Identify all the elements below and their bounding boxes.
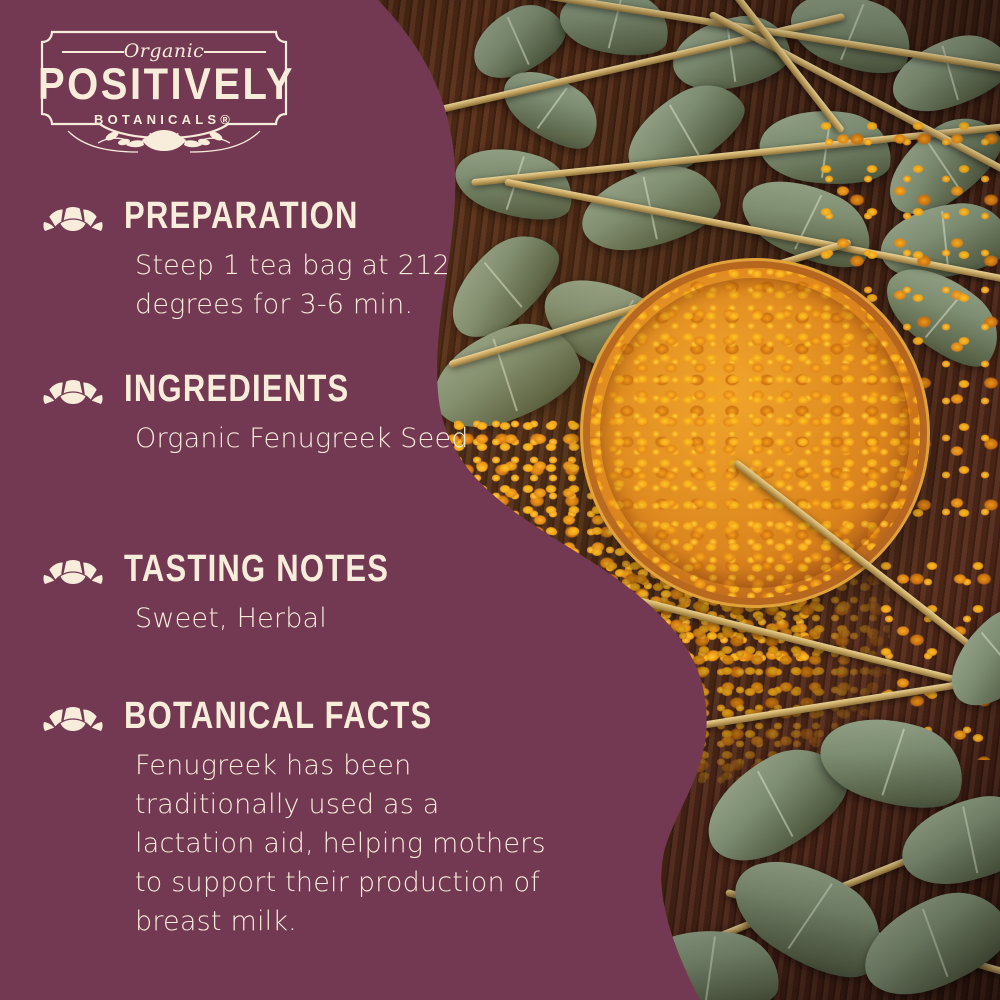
- section-header: BOTANICAL FACTS: [40, 692, 560, 738]
- section-botanical-facts: BOTANICAL FACTS Fenugreek has been tradi…: [40, 692, 560, 941]
- brand-logo[interactable]: Organic POSITIVELY BOTANICALS®: [38, 28, 290, 146]
- section-header: INGREDIENTS: [40, 365, 560, 411]
- section-header: PREPARATION: [40, 192, 560, 238]
- section-body: Organic Fenugreek Seed: [135, 419, 560, 458]
- logo-eyebrow: Organic: [38, 40, 290, 62]
- section-title: BOTANICAL FACTS: [124, 693, 432, 737]
- product-info-card: Organic POSITIVELY BOTANICALS®: [0, 0, 1000, 1000]
- section-body: Fenugreek has been traditionally used as…: [135, 746, 560, 941]
- fan-shell-icon: [40, 697, 106, 733]
- fan-shell-icon: [40, 370, 106, 406]
- logo-wordmark: POSITIVELY: [38, 60, 290, 109]
- section-title: INGREDIENTS: [124, 366, 349, 410]
- section-body: Steep 1 tea bag at 212 degrees for 3-6 m…: [135, 246, 560, 324]
- fan-shell-icon: [40, 197, 106, 233]
- section-title: PREPARATION: [124, 193, 359, 237]
- section-preparation: PREPARATION Steep 1 tea bag at 212 degre…: [40, 192, 560, 324]
- fan-shell-icon: [40, 550, 106, 586]
- section-ingredients: INGREDIENTS Organic Fenugreek Seed: [40, 365, 560, 458]
- section-body: Sweet, Herbal: [135, 599, 560, 638]
- section-tasting-notes: TASTING NOTES Sweet, Herbal: [40, 545, 560, 638]
- section-header: TASTING NOTES: [40, 545, 560, 591]
- info-content: Organic POSITIVELY BOTANICALS®: [0, 0, 560, 1000]
- section-title: TASTING NOTES: [124, 546, 389, 590]
- logo-ornament-fan-icon: [38, 127, 290, 153]
- logo-subtitle: BOTANICALS®: [38, 112, 290, 127]
